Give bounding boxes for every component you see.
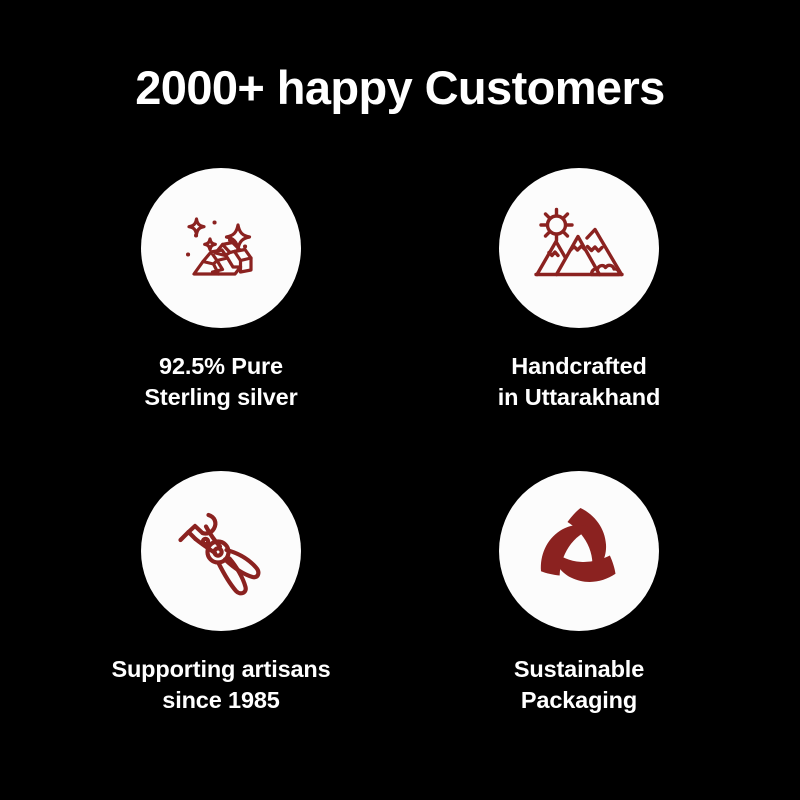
feature-label-line-1: Supporting artisans xyxy=(111,654,330,685)
promo-card: 2000+ happy Customers xyxy=(0,0,800,800)
page-title: 2000+ happy Customers xyxy=(0,62,800,114)
feature-label-line-2: Sterling silver xyxy=(144,382,297,413)
feature-label-line-2: since 1985 xyxy=(111,685,330,716)
badge-circle xyxy=(499,471,659,631)
feature-label: Supporting artisans since 1985 xyxy=(111,654,330,716)
badge-circle xyxy=(141,168,301,328)
feature-label-line-1: 92.5% Pure xyxy=(144,351,297,382)
feature-label-line-1: Sustainable xyxy=(514,654,644,685)
mountains-sun-icon xyxy=(525,194,633,302)
feature-label-line-2: in Uttarakhand xyxy=(498,382,660,413)
three-leaves-recycle-icon xyxy=(525,497,633,605)
feature-grid: 92.5% Pure Sterling silver xyxy=(42,168,758,716)
feature-item-sterling-silver: 92.5% Pure Sterling silver xyxy=(42,168,400,413)
feature-label: 92.5% Pure Sterling silver xyxy=(144,351,297,413)
feature-item-supporting-artisans: Supporting artisans since 1985 xyxy=(42,471,400,716)
badge-circle xyxy=(141,471,301,631)
feature-label-line-2: Packaging xyxy=(514,685,644,716)
feature-label: Sustainable Packaging xyxy=(514,654,644,716)
feature-label: Handcrafted in Uttarakhand xyxy=(498,351,660,413)
jewelers-pliers-icon xyxy=(168,498,274,604)
feature-item-sustainable-packaging: Sustainable Packaging xyxy=(400,471,758,716)
feature-item-handcrafted: Handcrafted in Uttarakhand xyxy=(400,168,758,413)
silver-bars-sparkle-icon xyxy=(169,196,273,300)
feature-label-line-1: Handcrafted xyxy=(498,351,660,382)
badge-circle xyxy=(499,168,659,328)
